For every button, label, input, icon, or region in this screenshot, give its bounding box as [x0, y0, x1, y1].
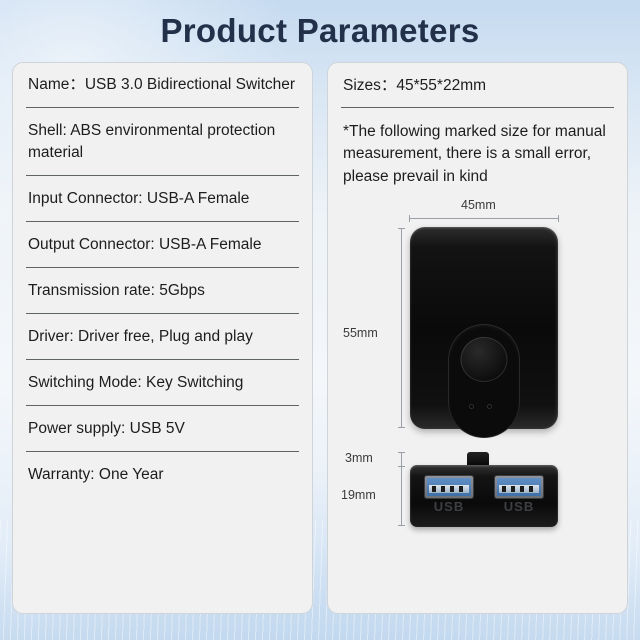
- panels-container: Name：USB 3.0 Bidirectional Switcher Shel…: [12, 62, 628, 614]
- usb-pin: [520, 486, 524, 492]
- specifications-panel: Name：USB 3.0 Bidirectional Switcher Shel…: [12, 62, 313, 614]
- product-diagram: 45mm 55mm 3mm 19mm: [341, 196, 614, 516]
- usb-port-2-cavity: [497, 478, 541, 496]
- specification-rows: Name：USB 3.0 Bidirectional Switcher Shel…: [26, 63, 299, 497]
- spec-row-name: Name：USB 3.0 Bidirectional Switcher: [26, 63, 299, 108]
- usb-pin: [450, 486, 454, 492]
- usb-pin: [459, 486, 463, 492]
- usb-port-2: USB: [495, 476, 543, 514]
- spec-text-driver: Driver: Driver free, Plug and play: [28, 326, 297, 348]
- spec-row-output-connector: Output Connector: USB-A Female: [26, 222, 299, 268]
- led-indicator-b-icon: [487, 404, 492, 409]
- device-port-view: USB USB: [410, 465, 558, 527]
- usb-port-1: USB: [425, 476, 473, 514]
- sizes-row: Sizes：45*55*22mm: [341, 63, 614, 108]
- spec-row-warranty: Warranty: One Year: [26, 452, 299, 497]
- spec-text-transmission-rate: Transmission rate: 5Gbps: [28, 280, 297, 302]
- dimensions-panel: Sizes：45*55*22mm *The following marked s…: [327, 62, 628, 614]
- led-indicator-a-icon: [469, 404, 474, 409]
- usb-port-1-label: USB: [425, 499, 473, 514]
- usb-pin: [502, 486, 506, 492]
- usb-port-2-label: USB: [495, 499, 543, 514]
- spec-text-switching-mode: Switching Mode: Key Switching: [28, 372, 297, 394]
- dimension-label-height: 55mm: [343, 326, 378, 340]
- dimension-line-width: [409, 218, 559, 219]
- spec-text-name: Name：USB 3.0 Bidirectional Switcher: [28, 74, 297, 96]
- dimension-line-depth-top: [401, 452, 402, 466]
- usb-pin: [441, 486, 445, 492]
- usb-pin: [529, 486, 533, 492]
- usb-port-1-cavity: [427, 478, 471, 496]
- spec-row-switching-mode: Switching Mode: Key Switching: [26, 360, 299, 406]
- spec-row-shell: Shell: ABS environmental protection mate…: [26, 108, 299, 176]
- sizes-text: Sizes：45*55*22mm: [343, 75, 612, 97]
- switch-button: [461, 337, 508, 382]
- dimension-label-depth-top: 3mm: [345, 451, 373, 465]
- page-title: Product Parameters: [0, 12, 640, 50]
- spec-text-output-connector: Output Connector: USB-A Female: [28, 234, 297, 256]
- dimension-label-width: 45mm: [461, 198, 496, 212]
- spec-row-driver: Driver: Driver free, Plug and play: [26, 314, 299, 360]
- dimension-label-depth-body: 19mm: [341, 488, 376, 502]
- spec-row-power-supply: Power supply: USB 5V: [26, 406, 299, 452]
- measurement-note: *The following marked size for manual me…: [341, 108, 614, 194]
- usb-pin: [511, 486, 515, 492]
- usb-port-2-shell: [495, 476, 543, 498]
- spec-text-input-connector: Input Connector: USB-A Female: [28, 188, 297, 210]
- device-top-view: [410, 227, 558, 429]
- usb-pin: [432, 486, 436, 492]
- button-oval-recess: [448, 324, 520, 438]
- spec-text-power-supply: Power supply: USB 5V: [28, 418, 297, 440]
- spec-text-shell: Shell: ABS environmental protection mate…: [28, 120, 297, 164]
- spec-row-transmission-rate: Transmission rate: 5Gbps: [26, 268, 299, 314]
- spec-text-warranty: Warranty: One Year: [28, 464, 297, 486]
- device-top-nub: [467, 452, 489, 465]
- usb-port-1-shell: [425, 476, 473, 498]
- dimension-line-height: [401, 228, 402, 428]
- spec-row-input-connector: Input Connector: USB-A Female: [26, 176, 299, 222]
- dimension-line-depth-body: [401, 466, 402, 526]
